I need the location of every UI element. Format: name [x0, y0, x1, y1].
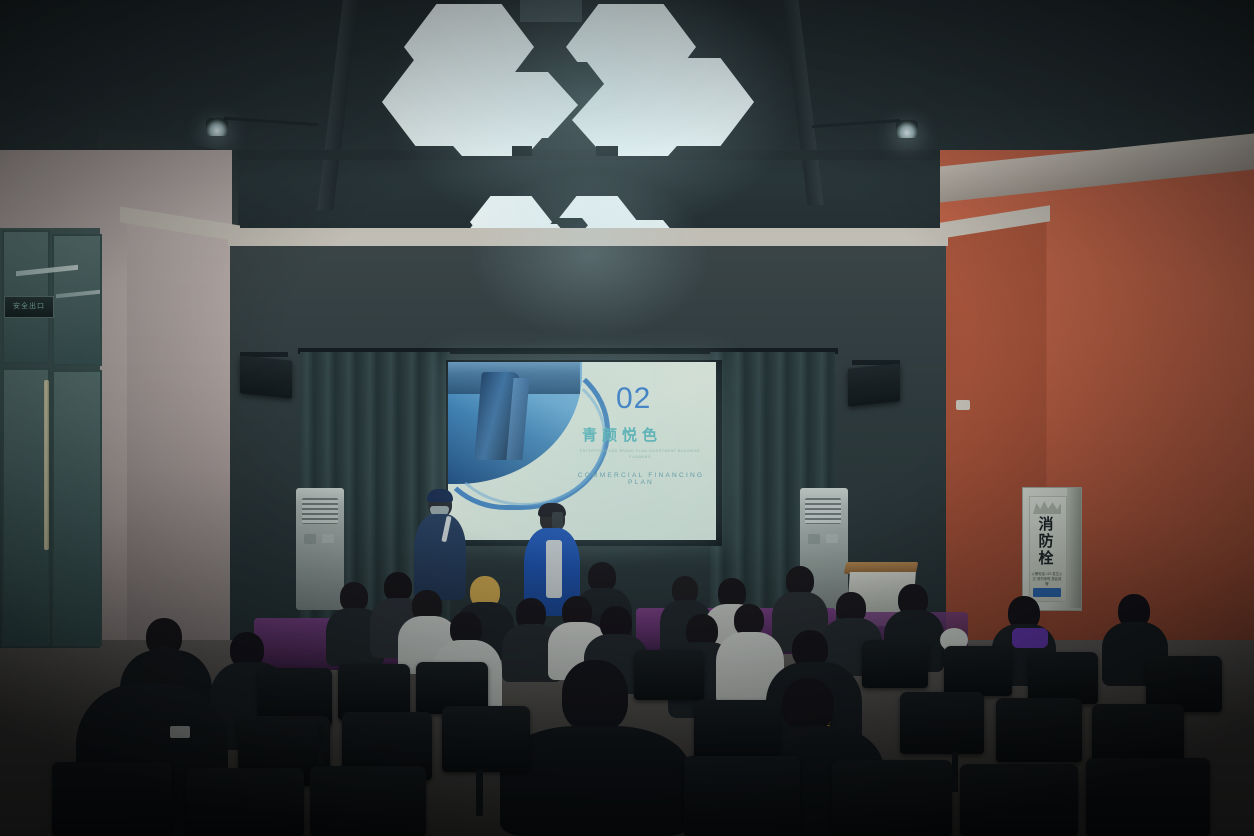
track-spotlight	[206, 118, 228, 136]
chair[interactable]	[52, 762, 172, 836]
presenter-right-inner-layer	[546, 540, 562, 598]
chair[interactable]	[684, 756, 800, 836]
track-spotlight	[896, 120, 918, 138]
emergency-light	[956, 400, 970, 410]
chair[interactable]	[996, 698, 1082, 762]
ac-control-panel	[808, 534, 820, 544]
chair[interactable]	[186, 768, 304, 836]
door-glass-panel	[2, 368, 50, 646]
chair[interactable]	[832, 760, 952, 836]
ceiling-vent	[520, 0, 582, 22]
door-glass-panel	[52, 234, 102, 366]
chair[interactable]	[862, 640, 928, 688]
air-conditioner-left	[296, 488, 344, 610]
chair[interactable]	[310, 766, 426, 836]
fire-hydrant-cabinet[interactable]: 消防栓 火警电话 119 发生火灾 请勿惊慌 按此报警	[1022, 487, 1082, 611]
chair[interactable]	[960, 764, 1078, 836]
chair-leg	[318, 724, 324, 764]
audience-head-foreground	[562, 660, 628, 732]
chair[interactable]	[1086, 758, 1210, 836]
chair[interactable]	[634, 650, 704, 700]
fire-hydrant-note: 火警电话 119 发生火灾 请勿惊慌 按此报警	[1031, 572, 1063, 587]
chair-leg	[476, 770, 483, 816]
room-photograph: 安全出口 02 青颜悦色 ENTERPRISE AND BRAND PLAN I…	[0, 0, 1254, 836]
projection-screen: 02 青颜悦色 ENTERPRISE AND BRAND PLAN INVEST…	[448, 362, 716, 540]
chair[interactable]	[694, 700, 780, 764]
ac-vent-grille	[805, 498, 841, 524]
wall-speaker-left	[240, 355, 292, 398]
slide-subtitle: ENTERPRISE AND BRAND PLAN INVESTMENT BUS…	[574, 448, 706, 460]
presenter-left-beanie	[427, 489, 453, 502]
chair-leg	[952, 752, 958, 792]
slide-title: 青颜悦色	[582, 424, 662, 445]
fire-hydrant-badge	[1033, 588, 1061, 597]
ceiling-soffit	[228, 228, 948, 246]
ac-display	[826, 534, 838, 543]
presenter-right-microphone	[552, 512, 563, 528]
slide-footer: COMMERCIAL FINANCING PLAN	[566, 472, 716, 486]
chair[interactable]	[442, 706, 530, 772]
presenter-left-body	[414, 514, 466, 600]
door-handle[interactable]	[44, 380, 49, 550]
chair[interactable]	[944, 646, 1012, 696]
ac-vent-grille	[302, 498, 338, 524]
slide-number: 02	[616, 384, 651, 414]
ac-control-panel	[304, 534, 316, 544]
chair[interactable]	[900, 692, 984, 754]
exit-sign-label: 安全出口	[8, 301, 50, 311]
ceiling-sensor	[596, 146, 618, 156]
fire-hydrant-label: 消防栓	[1035, 516, 1057, 567]
jacket-brand-logo	[170, 726, 190, 738]
door-glass-panel	[52, 370, 102, 646]
exit-sign: 安全出口	[4, 296, 54, 318]
audience-head-foreground	[782, 678, 834, 732]
fire-hydrant-cabinet-side	[1067, 488, 1081, 608]
ceiling-sensor	[512, 146, 532, 156]
ac-display	[322, 534, 334, 543]
chair[interactable]	[1028, 652, 1098, 704]
wall-speaker-right	[848, 363, 900, 406]
purple-scarf	[1012, 628, 1048, 648]
